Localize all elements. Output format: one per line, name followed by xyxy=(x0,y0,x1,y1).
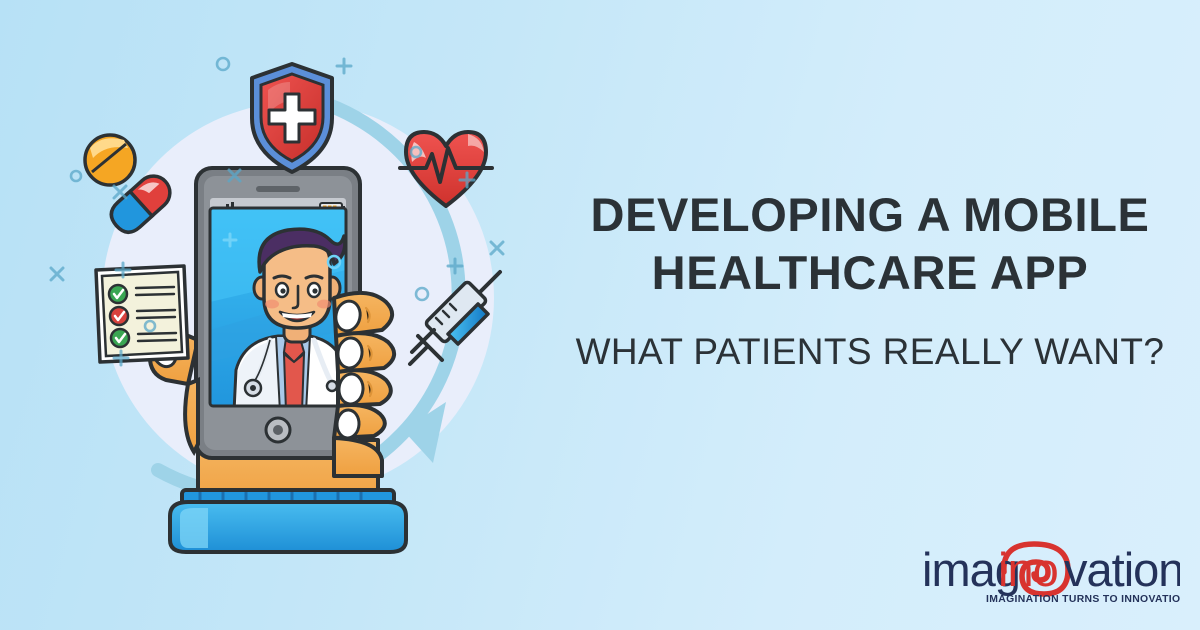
page-subtitle: WHAT PATIENTS REALLY WANT? xyxy=(560,330,1180,374)
illustration-telemedicine xyxy=(48,40,548,560)
page-title: DEVELOPING A MOBILE HEALTHCARE APP xyxy=(560,186,1180,302)
logo-word-part3: vation xyxy=(1064,543,1180,596)
logo-word-part2: ino xyxy=(998,543,1058,596)
phone-earpiece xyxy=(256,186,300,192)
checklist-icon xyxy=(96,266,188,362)
imaginovation-logo[interactable]: imag ino vation IMAGINATION TURNS TO INN… xyxy=(918,536,1180,610)
logo-tagline: IMAGINATION TURNS TO INNOVATION xyxy=(986,594,1180,605)
banner: DEVELOPING A MOBILE HEALTHCARE APP WHAT … xyxy=(0,0,1200,630)
headline-block: DEVELOPING A MOBILE HEALTHCARE APP WHAT … xyxy=(560,186,1180,374)
